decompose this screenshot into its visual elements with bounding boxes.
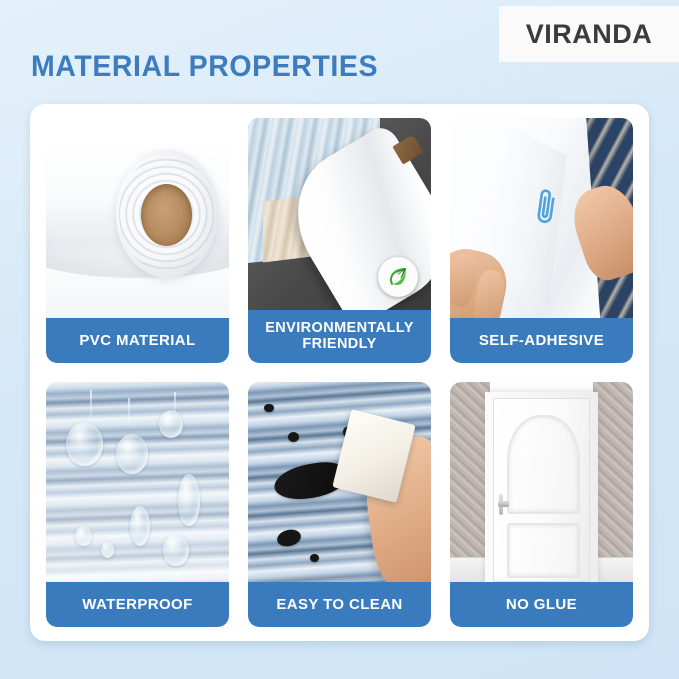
features-panel: PVC MATERIAL	[30, 104, 649, 641]
feature-label-no-glue: NO GLUE	[450, 582, 633, 627]
eco-peel-image	[248, 118, 431, 310]
no-glue-image	[450, 382, 633, 582]
brand-name: VIRANDA	[526, 19, 653, 50]
waterproof-image	[46, 382, 229, 582]
infographic-page: VIRANDA MATERIAL PROPERTIES PVC MATERIAL	[0, 0, 679, 679]
feature-label-easy-to-clean: EASY TO CLEAN	[248, 582, 431, 627]
feature-card-no-glue[interactable]: NO GLUE	[450, 382, 633, 627]
surface-sheen	[46, 382, 229, 582]
self-adhesive-image	[450, 118, 633, 318]
water-droplet-2	[116, 434, 149, 474]
leaf-icon	[378, 257, 418, 297]
feature-card-self-adhesive[interactable]: SELF-ADHESIVE	[450, 118, 633, 363]
door-handle	[498, 501, 509, 507]
water-droplet-8	[163, 534, 189, 566]
brand-logo-box: VIRANDA	[499, 6, 679, 62]
droplet-trail-2	[128, 398, 130, 426]
door-panel-lower	[507, 523, 579, 578]
features-grid: PVC MATERIAL	[46, 118, 633, 627]
droplet-trail-1	[90, 390, 92, 426]
door	[493, 398, 590, 582]
page-title: MATERIAL PROPERTIES	[31, 50, 378, 84]
feature-card-pvc-material[interactable]: PVC MATERIAL	[46, 118, 229, 363]
feature-label-pvc-material: PVC MATERIAL	[46, 318, 229, 363]
feature-card-waterproof[interactable]: WATERPROOF	[46, 382, 229, 627]
wall-right	[593, 382, 633, 558]
feature-card-environmentally-friendly[interactable]: ENVIRONMENTALLY FRIENDLY	[248, 118, 431, 363]
stain-1	[264, 404, 273, 412]
pvc-roll-image	[46, 118, 229, 318]
feature-label-self-adhesive: SELF-ADHESIVE	[450, 318, 633, 363]
water-droplet-4	[178, 474, 200, 526]
feature-card-easy-to-clean[interactable]: EASY TO CLEAN	[248, 382, 431, 627]
roll-cardboard-core	[141, 184, 192, 246]
door-panel-upper	[507, 415, 579, 514]
water-droplet-1	[66, 422, 103, 466]
feature-label-environmentally-friendly: ENVIRONMENTALLY FRIENDLY	[248, 310, 431, 363]
water-droplet-6	[75, 526, 91, 546]
water-droplet-7	[101, 542, 114, 558]
feature-label-waterproof: WATERPROOF	[46, 582, 229, 627]
easy-to-clean-image	[248, 382, 431, 582]
skirting-right	[593, 557, 633, 582]
